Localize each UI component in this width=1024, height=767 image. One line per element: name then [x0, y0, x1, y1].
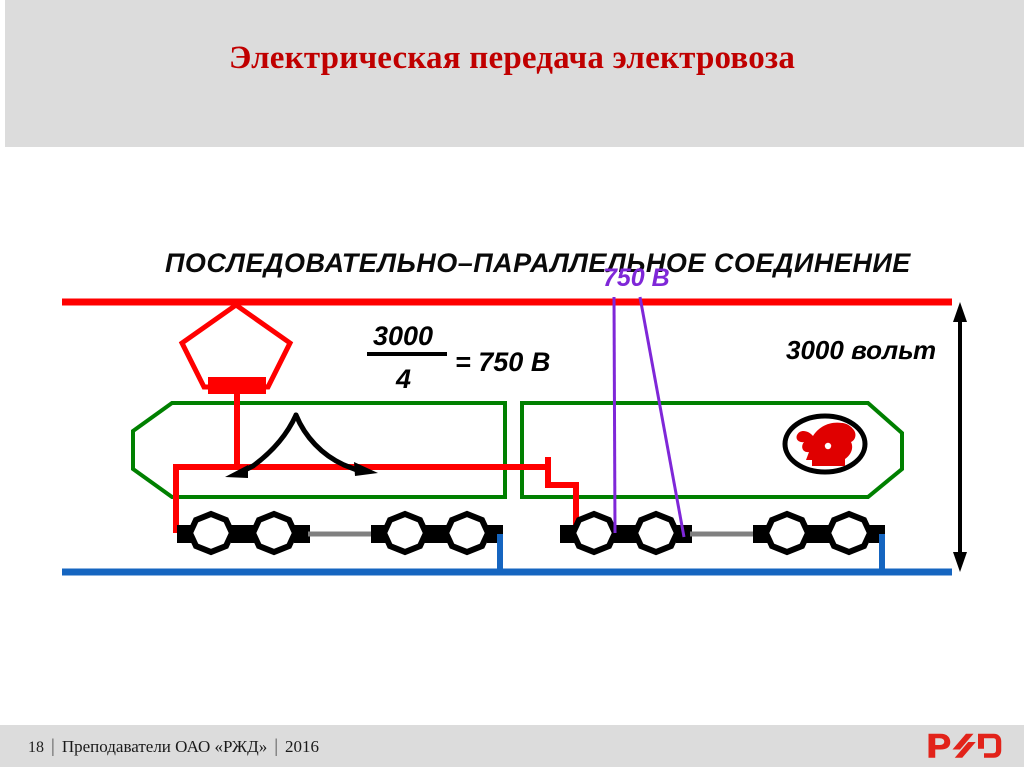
footer-year: 2016	[285, 738, 319, 755]
motor-voltage-label: 750 В	[603, 264, 670, 292]
footer-organization: Преподаватели ОАО «РЖД»	[62, 738, 267, 755]
skoda-emblem-icon	[785, 416, 865, 472]
footer-separator-1: |	[51, 737, 55, 756]
rzd-logo-icon	[924, 729, 1002, 761]
formula-result: = 750 В	[455, 347, 550, 377]
pantograph-icon	[182, 305, 290, 394]
motor-group-4	[753, 514, 885, 552]
voltage-formula: 3000 4 = 750 В	[367, 321, 550, 394]
slide-root: Электрическая передача электровоза ПОСЛЕ…	[0, 0, 1024, 767]
total-voltage-label: 3000 вольт	[786, 335, 936, 365]
motor-group-1	[177, 514, 310, 552]
formula-numerator: 3000	[373, 321, 433, 351]
page-title: Электрическая передача электровоза	[0, 0, 1024, 147]
footer-separator-2: |	[274, 737, 278, 756]
formula-denominator: 4	[395, 364, 411, 394]
motor-group-3	[560, 514, 692, 552]
slide-number: 18	[28, 737, 44, 756]
diagram-heading: ПОСЛЕДОВАТЕЛЬНО–ПАРАЛЛЕЛЬНОЕ СОЕДИНЕНИЕ	[165, 248, 911, 278]
voltage-dimension-arrow	[953, 302, 967, 572]
motor-group-2	[371, 514, 503, 552]
footer: 18 | Преподаватели ОАО «РЖД» | 2016	[0, 725, 1024, 767]
diagram-canvas: ПОСЛЕДОВАТЕЛЬНО–ПАРАЛЛЕЛЬНОЕ СОЕДИНЕНИЕ	[0, 147, 1024, 725]
high-voltage-wiring	[176, 390, 576, 533]
